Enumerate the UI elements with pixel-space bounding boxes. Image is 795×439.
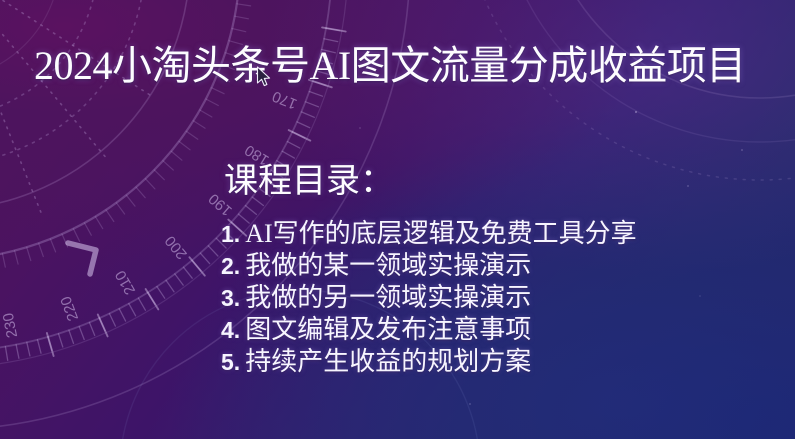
toc-item-number: 3. — [221, 283, 240, 314]
toc-item-label: 持续产生收益的规划方案 — [245, 346, 531, 377]
toc-item-number: 4. — [221, 315, 240, 346]
toc-item-number: 1. — [221, 219, 240, 250]
toc-heading: 课程目录： — [224, 162, 394, 202]
toc-list: 1.AI写作的底层逻辑及免费工具分享2.我做的某一领域实操演示3.我做的另一领域… — [221, 218, 637, 378]
mouse-pointer-icon — [256, 66, 272, 88]
toc-item-label: 图文编辑及发布注意事项 — [245, 314, 531, 345]
toc-item-number: 2. — [221, 251, 240, 282]
page-title: 2024小淘头条号AI图文流量分成收益项目 — [34, 44, 794, 88]
toc-item: 1.AI写作的底层逻辑及免费工具分享 — [221, 218, 637, 250]
toc-item: 2.我做的某一领域实操演示 — [221, 250, 637, 282]
toc-item: 5.持续产生收益的规划方案 — [221, 346, 637, 378]
toc-item: 4.图文编辑及发布注意事项 — [221, 314, 637, 346]
slide-text-layer: 2024小淘头条号AI图文流量分成收益项目 课程目录： 1.AI写作的底层逻辑及… — [0, 0, 795, 439]
slide-canvas: 170180190200210220230 — [0, 0, 795, 439]
toc-item: 3.我做的另一领域实操演示 — [221, 282, 637, 314]
toc-item-label: AI写作的底层逻辑及免费工具分享 — [245, 218, 636, 249]
toc-item-number: 5. — [221, 347, 240, 378]
toc-item-label: 我做的某一领域实操演示 — [245, 250, 531, 281]
toc-item-label: 我做的另一领域实操演示 — [245, 282, 531, 313]
